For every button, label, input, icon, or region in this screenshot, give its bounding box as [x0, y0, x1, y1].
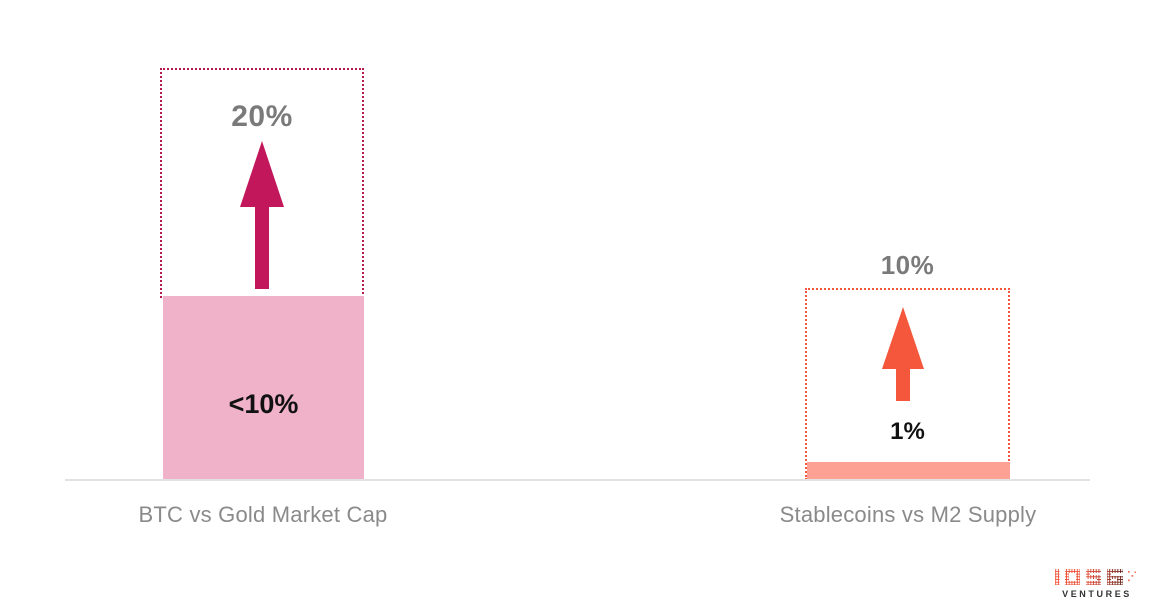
- current-bar-stablecoins-m2: [807, 462, 1010, 480]
- up-arrow-icon-stablecoins-m2: [880, 307, 926, 401]
- axis-baseline: [65, 479, 1090, 481]
- potential-label-stablecoins-m2: 10%: [805, 250, 1010, 281]
- chart-canvas: 20% <10% BTC vs Gold Market Cap 10% 1%: [0, 0, 1153, 609]
- category-label-stablecoins-m2: Stablecoins vs M2 Supply: [708, 502, 1108, 528]
- logo-wordmark: VENTURES: [1053, 589, 1139, 599]
- iosg-ventures-logo: VENTURES: [1053, 566, 1139, 599]
- bar-group-stablecoins-m2: 10% 1% Stablecoins vs M2 Supply: [0, 0, 1153, 609]
- current-label-stablecoins-m2: 1%: [805, 418, 1010, 446]
- iosg-logo-mark: [1053, 566, 1139, 588]
